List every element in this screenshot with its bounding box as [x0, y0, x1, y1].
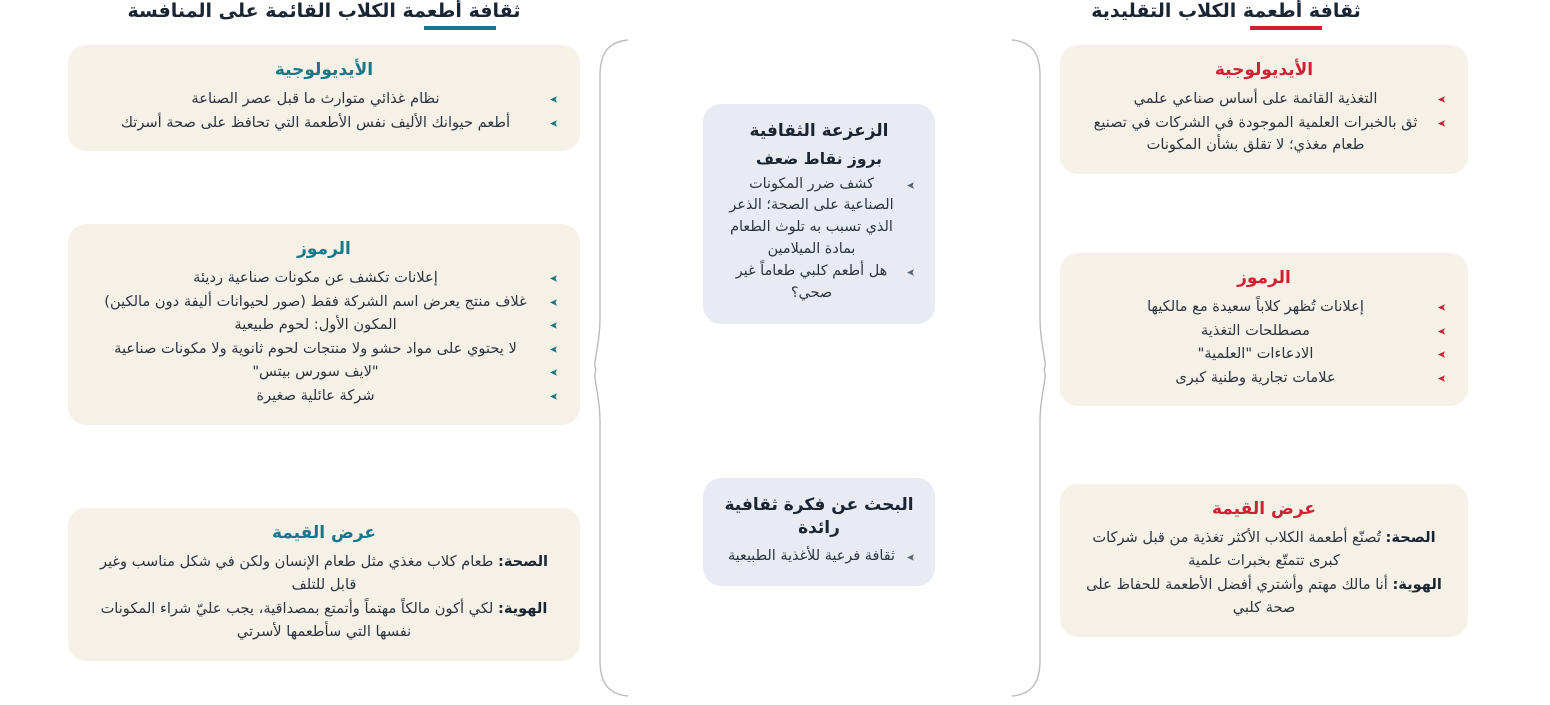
- list-item-label: المكون الأول: لحوم طبيعية: [234, 316, 396, 333]
- bullet-list: ثقافة فرعية للأغذية الطبيعية: [723, 546, 915, 568]
- list-item: إعلانات تكشف عن مكونات صناعية رديئة: [90, 267, 558, 290]
- list-item-label: شركة عائلية صغيرة: [256, 387, 374, 404]
- value-paragraph-health: الصحة: طعام كلاب مغذي مثل طعام الإنسان و…: [90, 551, 558, 596]
- list-item-label: التغذية القائمة على أساس صناعي علمي: [1134, 90, 1378, 107]
- value-paragraph-identity: الهوية: لكي أكون مالكاً مهتماً وأتمتع بم…: [90, 598, 558, 643]
- list-item: شركة عائلية صغيرة: [90, 385, 558, 408]
- list-item: ثقافة فرعية للأغذية الطبيعية: [723, 546, 915, 568]
- arrow-left-bullet-icon: [1437, 374, 1446, 383]
- bullet-list: نظام غذائي متوارث ما قبل عصر الصناعة أطع…: [90, 88, 558, 134]
- card-right-ideology: الأيديولوجية التغذية القائمة على أساس صن…: [1060, 45, 1468, 174]
- value-paragraph-health: الصحة: تُصنّع أطعمة الكلاب الأكثر تغذية …: [1082, 527, 1446, 572]
- arrow-left-bullet-icon: [549, 368, 558, 377]
- list-item: نظام غذائي متوارث ما قبل عصر الصناعة: [90, 88, 558, 111]
- list-item: غلاف منتج يعرض اسم الشركة فقط (صور لحيوا…: [90, 291, 558, 314]
- list-item-label: لا يحتوي على مواد حشو ولا منتجات لحوم ثا…: [114, 340, 517, 357]
- list-item: "لايف سورس بيتس": [90, 361, 558, 384]
- card-title: الرموز: [1082, 267, 1446, 290]
- card-title: الأيديولوجية: [1082, 59, 1446, 82]
- value-label-identity: الهوية:: [1392, 576, 1441, 593]
- column-header-left-underline: [424, 26, 496, 30]
- card-center-disruption: الزعزعة الثقافية بروز نقاط ضعف كشف ضرر ا…: [703, 104, 935, 324]
- arrow-left-bullet-icon: [1437, 95, 1446, 104]
- card-title: البحث عن فكرة ثقافية رائدة: [723, 494, 915, 540]
- list-item: كشف ضرر المكونات الصناعية على الصحة؛ الذ…: [723, 174, 915, 260]
- arrow-left-bullet-icon: [1437, 303, 1446, 312]
- list-item-label: إعلانات تُظهر كلاباً سعيدة مع مالكيها: [1147, 298, 1364, 315]
- list-item: إعلانات تُظهر كلاباً سعيدة مع مالكيها: [1082, 296, 1446, 319]
- list-item-label: مصطلحات التغذية: [1201, 322, 1310, 339]
- list-item-label: "لايف سورس بيتس": [252, 363, 378, 380]
- list-item-label: نظام غذائي متوارث ما قبل عصر الصناعة: [191, 90, 439, 107]
- card-right-symbols: الرموز إعلانات تُظهر كلاباً سعيدة مع مال…: [1060, 253, 1468, 406]
- curly-brace-right-icon: [1012, 40, 1045, 696]
- arrow-left-bullet-icon: [1437, 327, 1446, 336]
- column-header-right-text: ثقافة أطعمة الكلاب التقليدية: [902, 1, 1550, 23]
- arrow-left-bullet-icon: [549, 321, 558, 330]
- list-item: ثق بالخبرات العلمية الموجودة في الشركات …: [1082, 112, 1446, 157]
- value-text-identity: لكي أكون مالكاً مهتماً وأتمتع بمصداقية، …: [101, 600, 498, 640]
- column-header-left-text: ثقافة أطعمة الكلاب القائمة على المنافسة: [0, 1, 648, 23]
- bullet-list: إعلانات تكشف عن مكونات صناعية رديئة غلاف…: [90, 267, 558, 408]
- card-title: عرض القيمة: [90, 522, 558, 545]
- list-item-label: أطعم حيوانك الأليف نفس الأطعمة التي تحاف…: [121, 114, 510, 131]
- arrow-left-bullet-icon: [1437, 350, 1446, 359]
- card-title: عرض القيمة: [1082, 498, 1446, 521]
- value-text-health: طعام كلاب مغذي مثل طعام الإنسان ولكن في …: [100, 553, 498, 593]
- column-header-right: ثقافة أطعمة الكلاب التقليدية: [902, 1, 1550, 30]
- card-title: الرموز: [90, 238, 558, 261]
- card-right-value: عرض القيمة الصحة: تُصنّع أطعمة الكلاب ال…: [1060, 484, 1468, 637]
- value-label-health: الصحة:: [1386, 529, 1436, 546]
- list-item-label: ثق بالخبرات العلمية الموجودة في الشركات …: [1094, 114, 1418, 154]
- list-item-label: غلاف منتج يعرض اسم الشركة فقط (صور لحيوا…: [104, 293, 526, 310]
- arrow-left-bullet-icon: [549, 345, 558, 354]
- list-item: لا يحتوي على مواد حشو ولا منتجات لحوم ثا…: [90, 338, 558, 361]
- value-label-health: الصحة:: [498, 553, 548, 570]
- column-header-right-underline: [1250, 26, 1322, 30]
- list-item: أطعم حيوانك الأليف نفس الأطعمة التي تحاف…: [90, 112, 558, 135]
- bullet-list: التغذية القائمة على أساس صناعي علمي ثق ب…: [1082, 88, 1446, 157]
- card-subtitle: بروز نقاط ضعف: [723, 149, 915, 170]
- arrow-left-bullet-icon: [906, 553, 915, 562]
- list-item: المكون الأول: لحوم طبيعية: [90, 314, 558, 337]
- list-item-label: علامات تجارية وطنية كبرى: [1175, 369, 1335, 386]
- arrow-left-bullet-icon: [906, 181, 915, 190]
- list-item-label: ثقافة فرعية للأغذية الطبيعية: [728, 548, 895, 564]
- value-label-identity: الهوية:: [498, 600, 547, 617]
- value-paragraph-identity: الهوية: أنا مالك مهتم وأشتري أفضل الأطعم…: [1082, 574, 1446, 619]
- list-item: الادعاءات "العلمية": [1082, 343, 1446, 366]
- card-left-ideology: الأيديولوجية نظام غذائي متوارث ما قبل عص…: [68, 45, 580, 151]
- arrow-left-bullet-icon: [1437, 119, 1446, 128]
- list-item-label: كشف ضرر المكونات الصناعية على الصحة؛ الذ…: [729, 176, 893, 257]
- list-item: التغذية القائمة على أساس صناعي علمي: [1082, 88, 1446, 111]
- arrow-left-bullet-icon: [906, 268, 915, 277]
- list-item-label: هل أطعم كلبي طعاماً غير صحي؟: [736, 263, 887, 301]
- list-item: هل أطعم كلبي طعاماً غير صحي؟: [723, 261, 915, 304]
- card-left-symbols: الرموز إعلانات تكشف عن مكونات صناعية ردي…: [68, 224, 580, 425]
- arrow-left-bullet-icon: [549, 95, 558, 104]
- value-text-identity: أنا مالك مهتم وأشتري أفضل الأطعمة للحفاظ…: [1086, 576, 1392, 616]
- list-item: علامات تجارية وطنية كبرى: [1082, 367, 1446, 390]
- arrow-left-bullet-icon: [549, 274, 558, 283]
- bullet-list: إعلانات تُظهر كلاباً سعيدة مع مالكيها مص…: [1082, 296, 1446, 389]
- value-text-health: تُصنّع أطعمة الكلاب الأكثر تغذية من قبل …: [1092, 529, 1385, 569]
- diagram-canvas: ثقافة أطعمة الكلاب القائمة على المنافسة …: [0, 0, 1550, 705]
- column-header-left: ثقافة أطعمة الكلاب القائمة على المنافسة: [0, 1, 648, 30]
- arrow-left-bullet-icon: [549, 119, 558, 128]
- curly-brace-left-icon: [595, 40, 628, 696]
- list-item-label: إعلانات تكشف عن مكونات صناعية رديئة: [193, 269, 438, 286]
- card-center-idea: البحث عن فكرة ثقافية رائدة ثقافة فرعية ل…: [703, 478, 935, 586]
- arrow-left-bullet-icon: [549, 392, 558, 401]
- arrow-left-bullet-icon: [549, 298, 558, 307]
- list-item: مصطلحات التغذية: [1082, 320, 1446, 343]
- card-title: الزعزعة الثقافية: [723, 120, 915, 143]
- card-title: الأيديولوجية: [90, 59, 558, 82]
- list-item-label: الادعاءات "العلمية": [1198, 345, 1314, 362]
- card-left-value: عرض القيمة الصحة: طعام كلاب مغذي مثل طعا…: [68, 508, 580, 661]
- bullet-list: كشف ضرر المكونات الصناعية على الصحة؛ الذ…: [723, 174, 915, 305]
